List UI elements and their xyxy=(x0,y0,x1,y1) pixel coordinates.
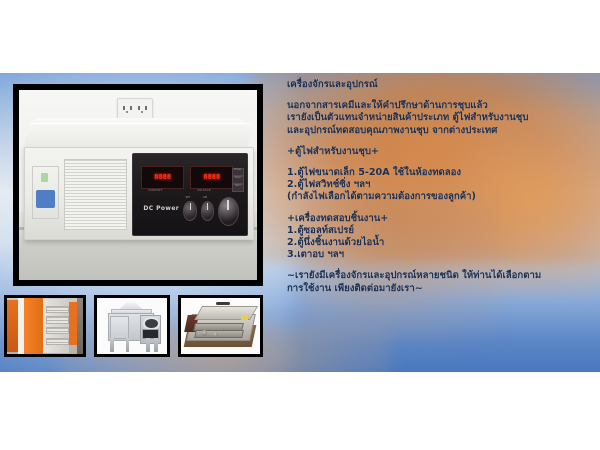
ventilation-grille xyxy=(64,159,128,230)
thumb-image xyxy=(181,298,260,354)
heading: เครื่องจักรและอุปกรณ์ xyxy=(287,79,592,91)
oven-port-1 xyxy=(202,330,208,336)
footer-line-1: ~เรายังมีเครื่องจักรและอุปกรณ์หลายชนิด ใ… xyxy=(287,270,592,282)
cabinet-vent-2 xyxy=(46,316,70,323)
section2-title: +เครื่องทดสอบชิ้นงาน+ xyxy=(287,213,592,225)
spacer-2 xyxy=(287,158,592,167)
outlet-hole-left xyxy=(122,105,133,114)
section1-item-1: 1.ตู้ไฟขนาดเล็ก 5-20A ใช้ในห้องทดลอง xyxy=(287,167,592,179)
outlet-hole-right xyxy=(137,105,148,114)
salt-spray-chamber-thumb[interactable] xyxy=(94,295,170,357)
voltage-display-label: VOLTAGE xyxy=(197,189,211,192)
photo-scene: 8888 CURRENT 8888 VOLTAGE Power Over Rem… xyxy=(19,90,257,280)
rectifier-cabinet-thumb[interactable] xyxy=(4,295,86,357)
chamber-leg-2 xyxy=(126,338,130,351)
voltage-digits: 8888 xyxy=(203,174,220,181)
remote-indicator-lamp: Rem xyxy=(232,184,244,192)
knob-a-label: SET xyxy=(186,196,191,199)
main-product-photo[interactable]: 8888 CURRENT 8888 VOLTAGE Power Over Rem… xyxy=(13,84,263,286)
cabinet-orange-right xyxy=(69,302,77,345)
cabinet-grey-front xyxy=(43,299,69,353)
spacer-1 xyxy=(287,137,592,146)
oven-lid xyxy=(194,306,258,320)
device-brand-label: DC Power xyxy=(143,205,179,212)
current-digits: 8888 xyxy=(154,174,171,181)
promo-text-block: เครื่องจักรและอุปกรณ์ นอกจากสารเคมีและให… xyxy=(287,79,592,295)
chamber-leg-4 xyxy=(154,338,158,351)
adjust-knob-small-left xyxy=(183,201,196,221)
adjust-knob-large xyxy=(218,197,239,226)
cabinet-vent-3 xyxy=(46,327,70,334)
thumb-image xyxy=(7,298,83,354)
knob-b-label: LIM xyxy=(203,196,207,199)
current-display-label: CURRENT xyxy=(148,189,163,192)
chamber-door xyxy=(110,316,129,339)
intro-line-2: เรายังเป็นตัวแทนจำหน่ายสินค้าประเภท ตู้ไ… xyxy=(287,112,592,124)
oven-warning-sticker xyxy=(241,315,248,321)
section2-item-3: 3.เตาอบ ฯลฯ xyxy=(287,249,592,261)
section1-title: +ตู้ไฟสำหรับงานชุบ+ xyxy=(287,146,592,158)
section2-item-1: 1.ตู้ซอลท์สเปรย์ xyxy=(287,225,592,237)
thumb-image xyxy=(97,298,167,354)
footer-line-2: การใช้งาน เพียงติดต่อมายังเรา~ xyxy=(287,283,592,295)
oven-handle xyxy=(216,302,230,305)
breaker-indicator-led xyxy=(41,173,48,181)
adjust-knob-small-right xyxy=(201,201,214,221)
promotional-banner: 8888 CURRENT 8888 VOLTAGE Power Over Rem… xyxy=(0,73,600,372)
voltage-display: 8888 xyxy=(190,166,233,189)
intro-line-1: นอกจากสารเคมีและให้คำปรึกษาด้านการชุบแล้… xyxy=(287,100,592,112)
cabinet-vent-4 xyxy=(46,338,70,345)
section2-item-2: 2.ตู้นึ่งชิ้นงานด้วยไอน้ำ xyxy=(287,237,592,249)
chamber-display-panel xyxy=(142,329,159,339)
current-display: 8888 xyxy=(141,166,184,189)
power-indicator-lamp: Power xyxy=(232,168,244,176)
chassis-front-face: 8888 CURRENT 8888 VOLTAGE Power Over Rem… xyxy=(24,147,254,240)
spacer-3 xyxy=(287,204,592,213)
chamber-leg-3 xyxy=(146,338,150,351)
control-panel: 8888 CURRENT 8888 VOLTAGE Power Over Rem… xyxy=(132,153,248,235)
intro-line-3: และอุปกรณ์ทดสอบคุณภาพงานชุบ จากต่างประเท… xyxy=(287,125,592,137)
cabinet-orange-front xyxy=(24,298,44,354)
circuit-breaker xyxy=(32,166,59,219)
cabinet-vent-1 xyxy=(46,306,70,313)
section1-note: (กำลังไฟเลือกได้ตามความต้องการของลูกค้า) xyxy=(287,191,592,203)
dc-power-supply-unit: 8888 CURRENT 8888 VOLTAGE Power Over Rem… xyxy=(24,147,252,238)
chamber-leg-1 xyxy=(110,338,114,351)
cabinet-shadow-right xyxy=(77,298,83,354)
breaker-switch xyxy=(36,190,55,207)
section1-item-2: 2.ตู้ไฟสวิทช์ซิ่ง ฯลฯ xyxy=(287,179,592,191)
oven-tray-thumb[interactable] xyxy=(178,295,263,357)
over-indicator-lamp: Over xyxy=(232,176,244,184)
